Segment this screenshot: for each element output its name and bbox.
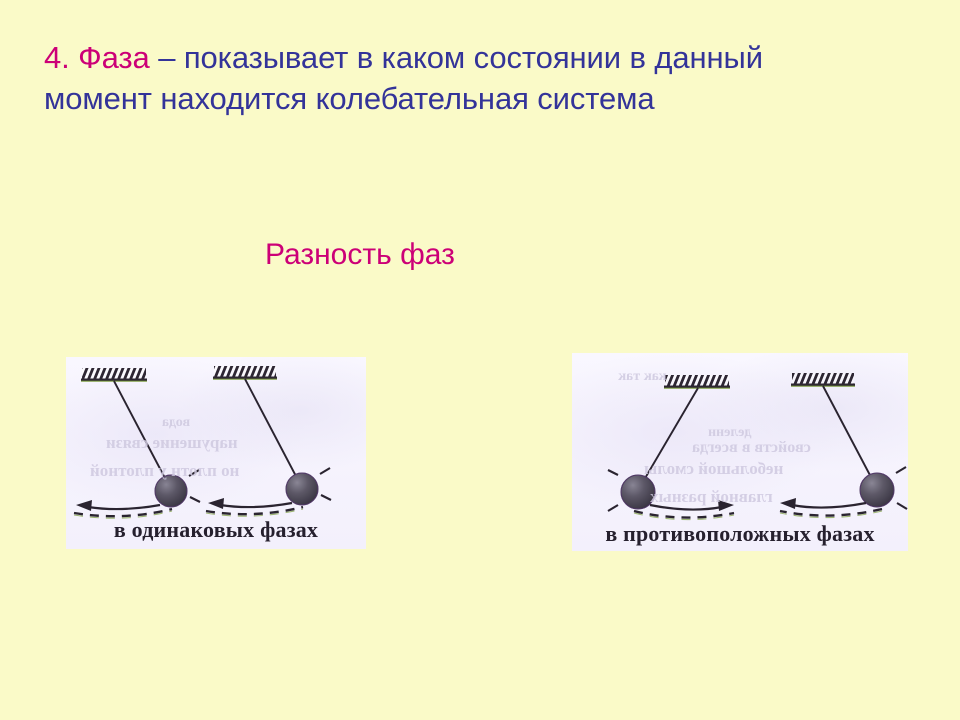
heading-rest: – показывает в каком состоянии в данный … — [44, 40, 763, 116]
page-title: 4. Фаза – показывает в каком состоянии в… — [44, 38, 824, 120]
figure-caption-opposite-phase: в противоположных фазах — [572, 521, 908, 547]
figure-caption-same-phase: в одинаковых фазах — [66, 517, 366, 543]
heading-term: 4. Фаза — [44, 40, 150, 75]
figure-same-phase: вода нарушение связи но плотн у плотной … — [66, 357, 366, 549]
slide-canvas: 4. Фаза – показывает в каком состоянии в… — [0, 0, 960, 720]
figure-opposite-phase: как так деленн свойств в всегда небольшо… — [572, 353, 908, 551]
subheading-phase-difference: Разность фаз — [265, 238, 455, 272]
